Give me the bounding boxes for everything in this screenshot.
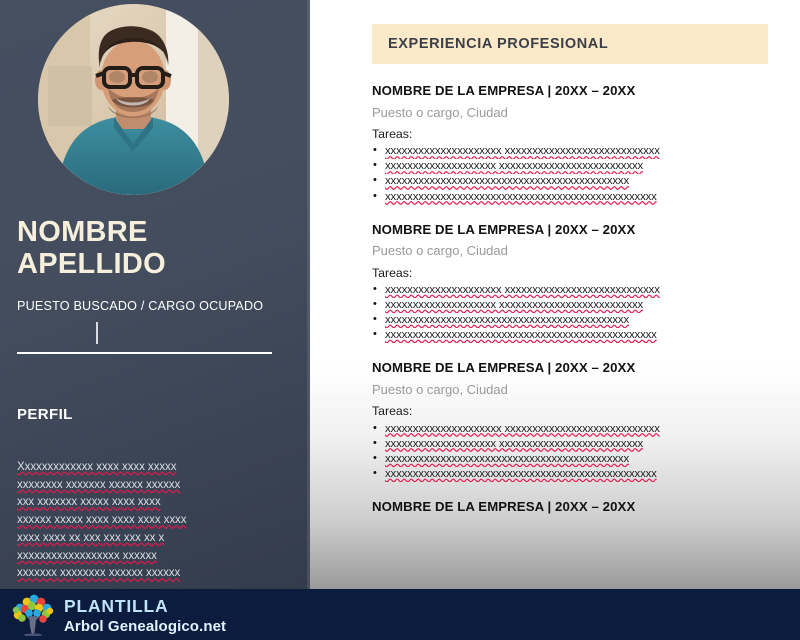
job-subtitle: Puesto o cargo, Ciudad — [372, 103, 792, 123]
job-tasks-label: Tareas: — [372, 402, 792, 420]
profile-heading: PERFIL — [17, 406, 73, 423]
task-item: xxxxxxxxxxxxxxxxxxxxxxxxxxxxxxxxxxxxxxxx… — [372, 328, 792, 343]
task-item: xxxxxxxxxxxxxxxxxxxxx xxxxxxxxxxxxxxxxxx… — [372, 144, 792, 159]
section-title: EXPERIENCIA PROFESIONAL — [372, 36, 608, 52]
footer-subtitle: Arbol Genealogico.net — [64, 618, 226, 637]
profile-body: Xxxxxxxxxxxxx xxxx xxxx xxxxx xxxxxxxx x… — [17, 458, 295, 582]
task-item: xxxxxxxxxxxxxxxxxxxxxxxxxxxxxxxxxxxxxxxx… — [372, 313, 792, 328]
job-subtitle: Puesto o cargo, Ciudad — [372, 380, 792, 400]
experience-column: EXPERIENCIA PROFESIONAL NOMBRE DE LA EMP… — [310, 0, 800, 589]
task-item: xxxxxxxxxxxxxxxxxxxx xxxxxxxxxxxxxxxxxxx… — [372, 437, 792, 452]
job-list: NOMBRE DE LA EMPRESA | 20XX – 20XX Puest… — [372, 82, 792, 532]
sidebar-divider — [17, 352, 272, 354]
profile-line: Xxxxxxxxxxxxx xxxx xxxx xxxxx — [17, 458, 295, 476]
profile-sidebar: NOMBRE APELLIDO PUESTO BUSCADO / CARGO O… — [0, 0, 310, 589]
profile-photo-illustration — [38, 4, 229, 195]
job-entry: NOMBRE DE LA EMPRESA | 20XX – 20XX — [372, 498, 792, 516]
job-task-list: xxxxxxxxxxxxxxxxxxxxx xxxxxxxxxxxxxxxxxx… — [372, 283, 792, 343]
job-entry: NOMBRE DE LA EMPRESA | 20XX – 20XX Puest… — [372, 82, 792, 205]
profile-line: xxx xxxxxxx xxxxx xxxx xxxx — [17, 493, 295, 511]
full-name: NOMBRE APELLIDO — [17, 216, 302, 281]
section-banner-experiencia: EXPERIENCIA PROFESIONAL — [372, 24, 768, 64]
last-name: APELLIDO — [17, 248, 302, 280]
footer-title: PLANTILLA — [64, 596, 226, 617]
avatar — [38, 4, 229, 195]
profile-line: xxxxxx xxxxx xxxx xxxx xxxx xxxx — [17, 511, 295, 529]
job-role-sought: PUESTO BUSCADO / CARGO OCUPADO — [17, 299, 263, 313]
task-item: xxxxxxxxxxxxxxxxxxxxx xxxxxxxxxxxxxxxxxx… — [372, 283, 792, 298]
task-item: xxxxxxxxxxxxxxxxxxxxx xxxxxxxxxxxxxxxxxx… — [372, 422, 792, 437]
job-tasks-label: Tareas: — [372, 125, 792, 143]
job-tasks-label: Tareas: — [372, 264, 792, 282]
text-caret — [96, 322, 98, 344]
profile-line: xxxxxxx xxxxxxxx xxxxxx xxxxxx — [17, 564, 295, 582]
site-footer-banner: PLANTILLA Arbol Genealogico.net — [0, 589, 800, 640]
task-item: xxxxxxxxxxxxxxxxxxxxxxxxxxxxxxxxxxxxxxxx… — [372, 467, 792, 482]
job-entry: NOMBRE DE LA EMPRESA | 20XX – 20XX Puest… — [372, 359, 792, 482]
profile-line: xxxxxxxxxxxxxxxxxx xxxxxx — [17, 547, 295, 565]
resume-template-page: EXPERIENCIA PROFESIONAL NOMBRE DE LA EMP… — [0, 0, 800, 640]
profile-line: xxxxxxxx xxxxxxx xxxxxx xxxxxx — [17, 476, 295, 494]
job-title: NOMBRE DE LA EMPRESA | 20XX – 20XX — [372, 359, 792, 377]
task-item: xxxxxxxxxxxxxxxxxxxxxxxxxxxxxxxxxxxxxxxx… — [372, 174, 792, 189]
profile-line: xxxx xxxx xx xxx xxx xxx xx x — [17, 529, 295, 547]
job-title: NOMBRE DE LA EMPRESA | 20XX – 20XX — [372, 221, 792, 239]
job-title: NOMBRE DE LA EMPRESA | 20XX – 20XX — [372, 498, 792, 516]
tree-logo-icon — [10, 594, 56, 636]
job-task-list: xxxxxxxxxxxxxxxxxxxxx xxxxxxxxxxxxxxxxxx… — [372, 422, 792, 482]
job-entry: NOMBRE DE LA EMPRESA | 20XX – 20XX Puest… — [372, 221, 792, 344]
task-item: xxxxxxxxxxxxxxxxxxxxxxxxxxxxxxxxxxxxxxxx… — [372, 190, 792, 205]
task-item: xxxxxxxxxxxxxxxxxxxxxxxxxxxxxxxxxxxxxxxx… — [372, 452, 792, 467]
job-title: NOMBRE DE LA EMPRESA | 20XX – 20XX — [372, 82, 792, 100]
task-item: xxxxxxxxxxxxxxxxxxxx xxxxxxxxxxxxxxxxxxx… — [372, 298, 792, 313]
job-task-list: xxxxxxxxxxxxxxxxxxxxx xxxxxxxxxxxxxxxxxx… — [372, 144, 792, 204]
task-item: xxxxxxxxxxxxxxxxxxxx xxxxxxxxxxxxxxxxxxx… — [372, 159, 792, 174]
first-name: NOMBRE — [17, 216, 302, 248]
footer-text-block: PLANTILLA Arbol Genealogico.net — [64, 596, 226, 636]
job-subtitle: Puesto o cargo, Ciudad — [372, 241, 792, 261]
